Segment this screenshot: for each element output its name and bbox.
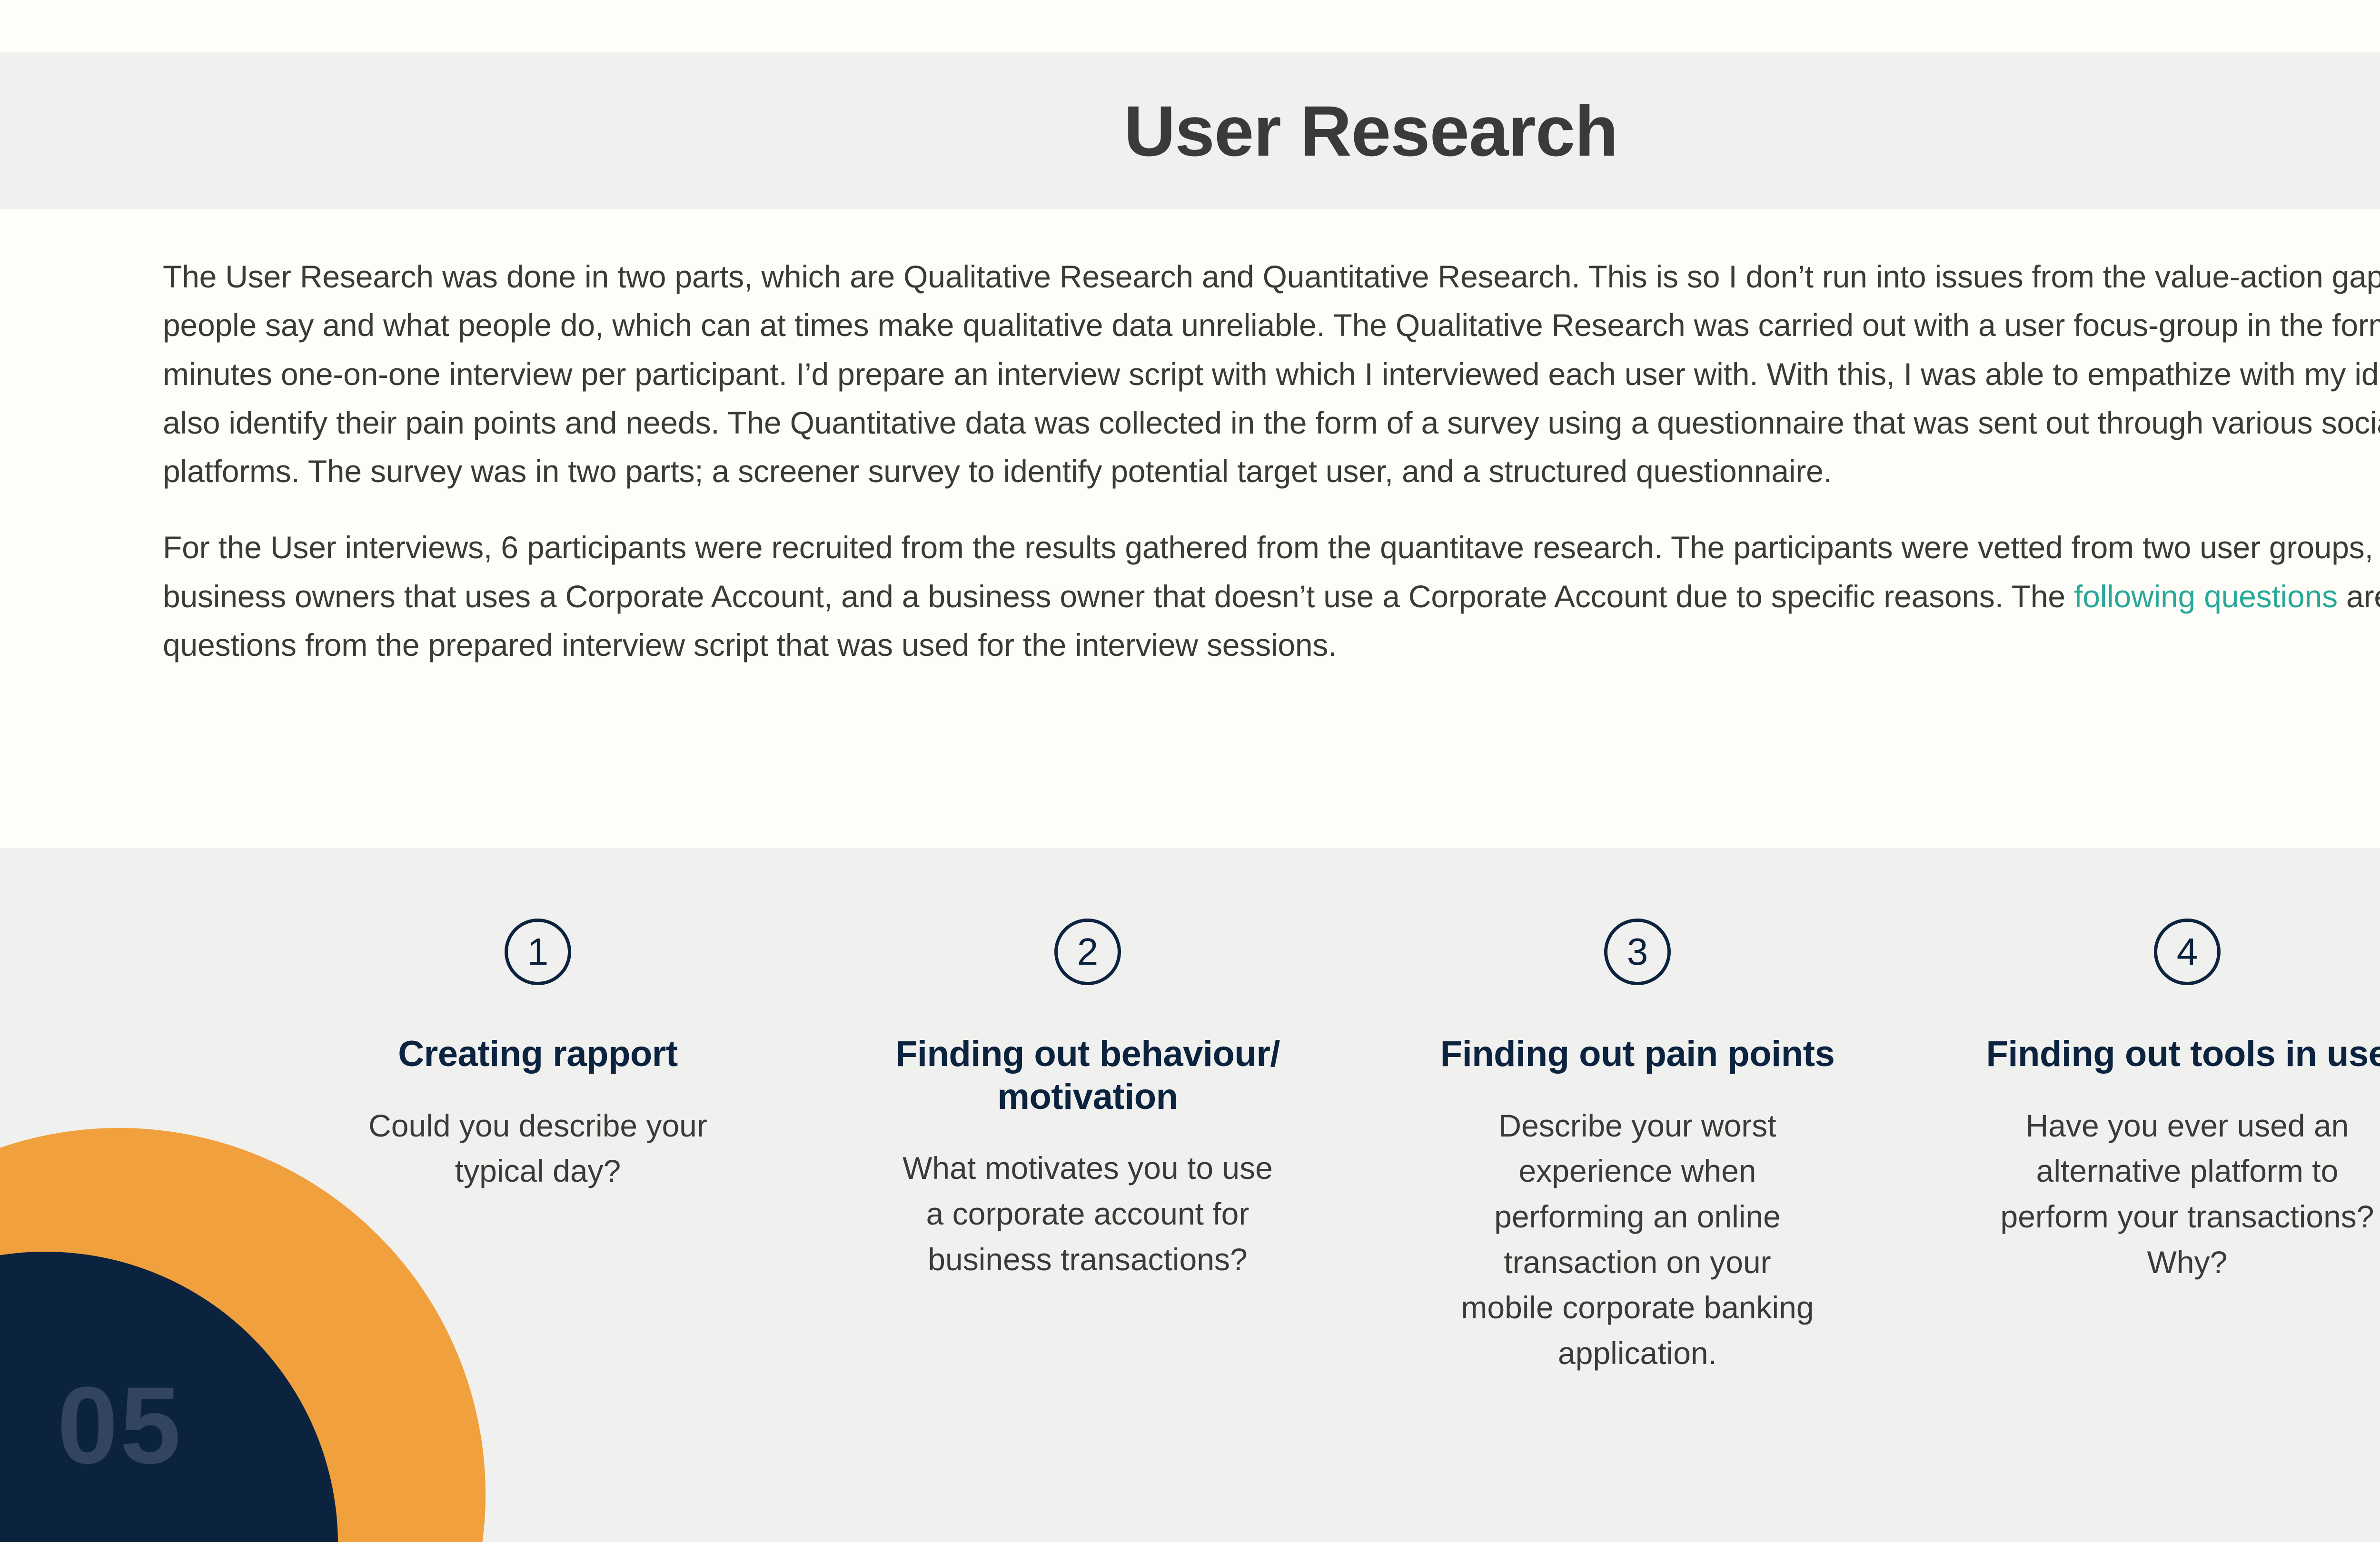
- question-card-title-4: Finding out tools in use: [1986, 1033, 2380, 1076]
- paragraph-two-lead: For the User interviews, 6 participants …: [163, 530, 2380, 613]
- question-card-title-2: Finding out behaviour/ motivation: [845, 1033, 1330, 1118]
- question-number-badge-3: 3: [1604, 919, 1671, 985]
- page-title: User Research: [1124, 95, 1618, 167]
- question-number-badge-4: 4: [2154, 919, 2221, 985]
- question-card-1: 1 Creating rapport Could you describe yo…: [295, 919, 781, 1194]
- question-card-text-1: Could you describe your typical day?: [362, 1103, 714, 1194]
- slide-root: User Research The User Research was done…: [0, 0, 2380, 1542]
- paragraph-one: The User Research was done in two parts,…: [163, 252, 2380, 495]
- slide-number: 05: [57, 1371, 183, 1480]
- question-card-title-3: Finding out pain points: [1440, 1033, 1835, 1076]
- question-card-3: 3 Finding out pain points Describe your …: [1395, 919, 1880, 1376]
- paragraph-two: For the User interviews, 6 participants …: [163, 523, 2380, 669]
- question-card-text-3: Describe your worst experience when perf…: [1457, 1103, 1818, 1376]
- question-card-title-1: Creating rapport: [398, 1033, 677, 1076]
- question-cards-row: 1 Creating rapport Could you describe yo…: [295, 919, 2380, 1376]
- question-card-4: 4 Finding out tools in use Have you ever…: [1944, 919, 2380, 1285]
- question-card-2: 2 Finding out behaviour/ motivation What…: [845, 919, 1330, 1282]
- following-questions-link[interactable]: following questions: [2074, 579, 2338, 614]
- question-card-text-4: Have you ever used an alternative platfo…: [1990, 1103, 2380, 1285]
- question-number-badge-1: 1: [505, 919, 571, 985]
- question-number-badge-2: 2: [1054, 919, 1121, 985]
- header-band: User Research: [0, 52, 2380, 209]
- body-text-block: The User Research was done in two parts,…: [163, 252, 2380, 669]
- question-card-text-2: What motivates you to use a corporate ac…: [897, 1146, 1278, 1282]
